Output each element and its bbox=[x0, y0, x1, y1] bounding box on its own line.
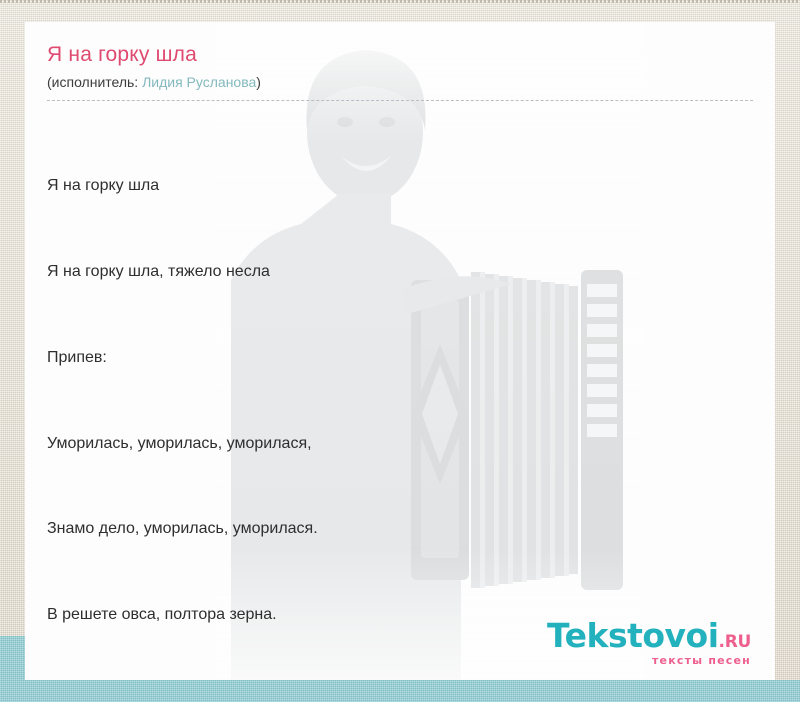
lyric-line: Знамо дело, уморилась, уморилася. bbox=[47, 515, 753, 544]
lyric-line: Уморилась, уморилась, уморилася, bbox=[47, 430, 753, 459]
site-logo-tagline: тексты песен bbox=[547, 655, 751, 666]
artist-suffix-label: ) bbox=[256, 74, 261, 90]
artist-credit: (исполнитель: Лидия Русланова) bbox=[47, 73, 753, 101]
lyric-line: Припев: bbox=[47, 344, 753, 373]
lyric-line: Я на горку шла, тяжело несла bbox=[47, 258, 753, 287]
bottom-accent-band bbox=[0, 680, 800, 702]
bottom-band-left-extension bbox=[0, 636, 25, 680]
page-title: Я на горку шла bbox=[47, 42, 753, 68]
site-logo[interactable]: Tekstovoi.RU тексты песен bbox=[547, 619, 751, 666]
top-dotted-rule bbox=[0, 0, 800, 3]
site-logo-name: Tekstovoi bbox=[547, 619, 719, 652]
site-logo-domain: .RU bbox=[719, 632, 751, 652]
artist-link[interactable]: Лидия Русланова bbox=[142, 74, 256, 90]
lyrics-body: Я на горку шла Я на горку шла, тяжело не… bbox=[47, 115, 753, 680]
lyric-line: Я на горку шла bbox=[47, 172, 753, 201]
artist-prefix-label: (исполнитель: bbox=[47, 74, 142, 90]
lyrics-card: Я на горку шла (исполнитель: Лидия Русла… bbox=[25, 22, 775, 680]
